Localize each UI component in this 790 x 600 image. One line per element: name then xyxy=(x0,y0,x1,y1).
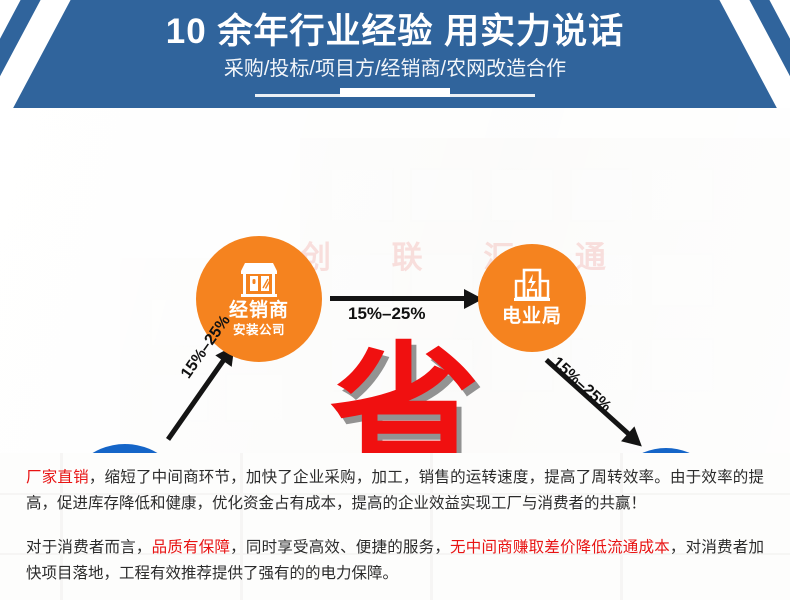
footer-paragraph-2-lead: 对于消费者而言， xyxy=(26,539,152,556)
node-dealer-sublabel: 安装公司 xyxy=(233,322,285,338)
power-building-icon xyxy=(511,268,553,304)
footer-highlight-1: 厂家直销 xyxy=(26,469,89,486)
footer-paragraph-2: 对于消费者而言，品质有保障，同时享受高效、便捷的服务，无中间商赚取差价降低流通成… xyxy=(0,517,790,587)
footer-paragraph-1: 厂家直销，缩短了中间商环节，加快了企业采购，加工，销售的运转速度，提高了周转效率… xyxy=(0,453,790,517)
header-divider-accent xyxy=(340,88,450,97)
footer-paragraph-2-mid: ，同时享受高效、便捷的服务， xyxy=(230,539,450,556)
node-bureau[interactable]: 电业局 xyxy=(478,244,586,352)
footer-highlight-3: 无中间商赚取差价降低流通成本 xyxy=(450,539,670,556)
arrow-shaft xyxy=(330,296,466,301)
footer-description: 厂家直销，缩短了中间商环节，加快了企业采购，加工，销售的运转速度，提高了周转效率… xyxy=(0,453,790,600)
arrow-label-dealer-to-bureau: 15%–25% xyxy=(348,304,426,324)
node-dealer-label: 经销商 xyxy=(229,300,289,322)
node-bureau-label: 电业局 xyxy=(502,306,562,328)
infographic-page: 10 余年行业经验 用实力说话 采购/投标/项目方/经销商/农网改造合作 xyxy=(0,0,790,600)
shop-icon xyxy=(237,260,281,298)
header-banner: 10 余年行业经验 用实力说话 采购/投标/项目方/经销商/农网改造合作 xyxy=(0,0,790,108)
footer-highlight-2: 品质有保障 xyxy=(152,539,231,556)
big-save-character: 省 xyxy=(330,341,480,453)
header-subtitle: 采购/投标/项目方/经销商/农网改造合作 xyxy=(0,56,790,82)
footer-paragraph-1-rest: ，缩短了中间商环节，加快了企业采购，加工，销售的运转速度，提高了周转效率。由于效… xyxy=(26,469,764,512)
header-title: 10 余年行业经验 用实力说话 xyxy=(0,12,790,52)
diagram-stage: 创 联 汇 通 省 15%–25% 15%–25% 15%–25% 在这里省了中… xyxy=(0,108,790,453)
header-text-block: 10 余年行业经验 用实力说话 采购/投标/项目方/经销商/农网改造合作 xyxy=(0,0,790,82)
